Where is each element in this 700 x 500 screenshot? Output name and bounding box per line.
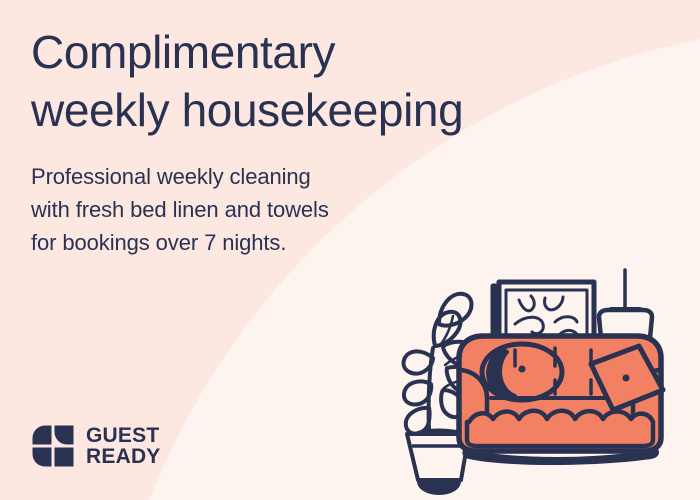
brand-wordmark-line1: GUEST (86, 425, 161, 446)
description-text: Professional weekly cleaning with fresh … (31, 160, 451, 259)
living-room-scene (395, 262, 700, 500)
brand-wordmark: GUEST READY (86, 425, 161, 467)
poster-content: Complimentary weekly housekeeping Profes… (0, 0, 700, 500)
sofa-icon (459, 336, 663, 465)
guestready-mark-icon (31, 424, 75, 468)
living-room-illustration (395, 262, 700, 500)
brand-logo: GUEST READY (31, 424, 161, 468)
brand-wordmark-line2: READY (86, 446, 161, 467)
promo-poster: Complimentary weekly housekeeping Profes… (0, 0, 700, 500)
page-title: Complimentary weekly housekeeping (31, 23, 631, 139)
